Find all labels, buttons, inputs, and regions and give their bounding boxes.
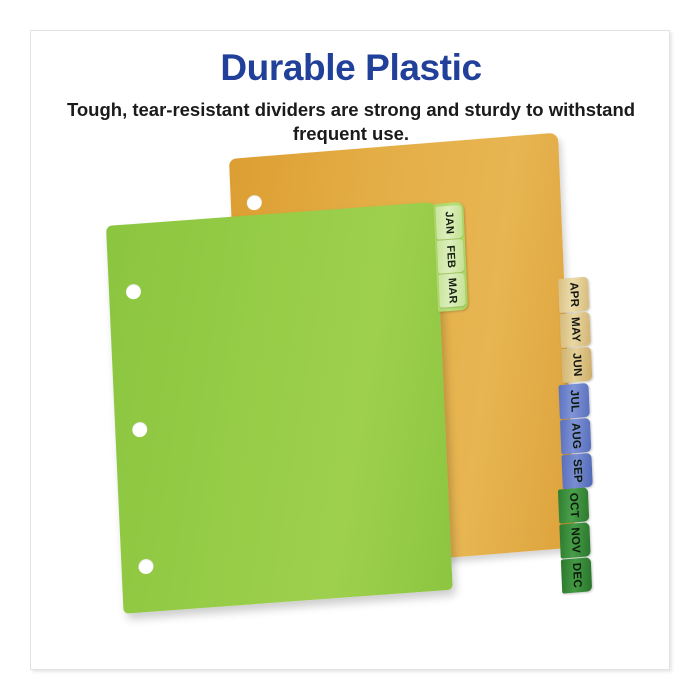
tab-group-oct-nov-dec: OCT NOV DEC [558, 487, 592, 594]
tab-sep[interactable]: SEP [561, 453, 592, 489]
tab-label: APR [567, 282, 580, 308]
tab-may[interactable]: MAY [560, 312, 591, 348]
tab-apr[interactable]: APR [558, 277, 589, 313]
tab-jun[interactable]: JUN [561, 347, 592, 383]
tab-label: MAY [569, 317, 582, 343]
tab-label: JUL [568, 389, 581, 413]
tab-feb[interactable]: FEB [437, 239, 464, 274]
tab-group-jul-aug-sep: JUL AUG SEP [559, 383, 593, 490]
tab-nov[interactable]: NOV [559, 522, 590, 558]
product-photo: APR MAY JUN JUL AUG [31, 31, 670, 670]
tab-mar[interactable]: MAR [438, 273, 465, 308]
tab-label: JUN [570, 352, 583, 377]
tab-oct[interactable]: OCT [558, 487, 589, 523]
tab-aug[interactable]: AUG [560, 418, 591, 454]
tab-label: FEB [444, 244, 457, 268]
tab-label: NOV [569, 527, 582, 554]
punch-hole-icon [126, 284, 142, 300]
tab-group-apr-may-jun: APR MAY JUN [558, 277, 592, 384]
punch-hole-icon [138, 558, 154, 574]
image-frame: Durable Plastic Tough, tear-resistant di… [30, 30, 670, 670]
tab-label: AUG [569, 422, 582, 449]
product-image-canvas: Durable Plastic Tough, tear-resistant di… [0, 0, 700, 700]
tab-label: OCT [567, 492, 580, 518]
tab-group-jan-feb-mar: JAN FEB MAR [433, 202, 468, 312]
tab-label: DEC [570, 562, 583, 588]
tab-label: JAN [443, 210, 456, 234]
tab-jul[interactable]: JUL [559, 383, 590, 419]
punch-hole-icon [132, 422, 148, 438]
green-divider: JAN FEB MAR [106, 202, 453, 614]
tab-jan[interactable]: JAN [435, 205, 462, 240]
punch-hole-icon [247, 195, 263, 211]
tab-label: MAR [446, 277, 459, 304]
tab-dec[interactable]: DEC [561, 557, 592, 593]
tab-label: SEP [571, 459, 584, 484]
